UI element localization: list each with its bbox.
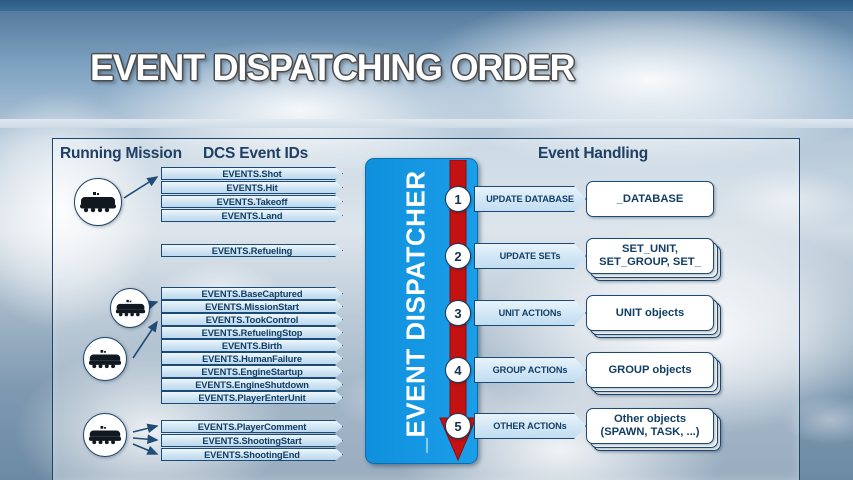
event-id-row[interactable]: EVENTS.ShootingEnd [161, 448, 343, 461]
event-id-row[interactable]: EVENTS.Hit [161, 181, 343, 194]
step-number-5: 5 [445, 413, 471, 439]
event-id-row[interactable]: EVENTS.PlayerComment [161, 420, 343, 433]
event-id-row[interactable]: EVENTS.EngineShutdown [161, 378, 343, 391]
event-id-row[interactable]: EVENTS.TookControl [161, 313, 343, 326]
column-header-event-handling: Event Handling [538, 145, 648, 163]
vehicle-icon-3 [83, 337, 127, 381]
event-id-row[interactable]: EVENTS.Land [161, 209, 343, 222]
result-card-label: Other objects (SPAWN, TASK, ...) [600, 413, 699, 439]
title-divider-band [0, 119, 853, 128]
event-id-row[interactable]: EVENTS.Refueling [161, 244, 343, 257]
action-chevron-update-database[interactable]: UPDATE DATABASE [474, 186, 586, 212]
result-card-sets[interactable]: SET_UNIT, SET_GROUP, SET_ [586, 238, 714, 274]
event-id-row[interactable]: EVENTS.RefuelingStop [161, 326, 343, 339]
event-id-row[interactable]: EVENTS.EngineStartup [161, 365, 343, 378]
result-card-group-objects[interactable]: GROUP objects [586, 352, 714, 388]
vehicle-icon-1 [74, 178, 122, 226]
result-card-line2: (SPAWN, TASK, ...) [600, 426, 699, 438]
step-number-2: 2 [445, 243, 471, 269]
step-number-3: 3 [445, 300, 471, 326]
step-number-4: 4 [445, 357, 471, 383]
event-id-row[interactable]: EVENTS.Birth [161, 339, 343, 352]
column-header-dcs-event-ids: DCS Event IDs [203, 145, 308, 163]
event-id-row[interactable]: EVENTS.ShootingStart [161, 434, 343, 447]
armored-vehicle-glyph [88, 349, 122, 369]
result-card-label: UNIT objects [616, 307, 684, 320]
step-number-1: 1 [445, 186, 471, 212]
result-card-database[interactable]: _DATABASE [586, 181, 714, 217]
armored-vehicle-glyph [88, 425, 122, 445]
action-chevron-group-actions[interactable]: GROUP ACTIONs [474, 357, 586, 383]
top-accent-band [0, 0, 853, 11]
page-title: EVENT DISPATCHING ORDER [90, 47, 574, 89]
action-chevron-unit-actions[interactable]: UNIT ACTIONs [474, 300, 586, 326]
armored-vehicle-glyph [115, 299, 146, 317]
event-id-row[interactable]: EVENTS.BaseCaptured [161, 287, 343, 300]
slide-canvas: EVENT DISPATCHING ORDER Running Mission … [0, 0, 853, 480]
vehicle-icon-4 [83, 413, 127, 457]
event-id-row[interactable]: EVENTS.Takeoff [161, 195, 343, 208]
result-card-unit-objects[interactable]: UNIT objects [586, 295, 714, 331]
event-id-row[interactable]: EVENTS.Shot [161, 167, 343, 180]
result-card-label: _DATABASE [617, 193, 684, 206]
result-card-line2: SET_GROUP, SET_ [599, 256, 701, 268]
event-id-row[interactable]: EVENTS.PlayerEnterUnit [161, 391, 343, 404]
result-card-other-objects[interactable]: Other objects (SPAWN, TASK, ...) [586, 408, 714, 444]
result-card-line1: Other objects [614, 413, 686, 425]
event-id-row[interactable]: EVENTS.MissionStart [161, 300, 343, 313]
column-header-running-mission: Running Mission [60, 145, 182, 163]
result-card-label: GROUP objects [608, 364, 691, 377]
action-chevron-update-sets[interactable]: UPDATE SETs [474, 243, 586, 269]
result-card-line1: SET_UNIT, [622, 243, 678, 255]
result-card-label: SET_UNIT, SET_GROUP, SET_ [599, 243, 701, 269]
action-chevron-other-actions[interactable]: OTHER ACTIONs [474, 413, 586, 439]
vehicle-icon-2 [110, 288, 150, 328]
armored-vehicle-glyph [79, 191, 117, 213]
event-id-row[interactable]: EVENTS.HumanFailure [161, 352, 343, 365]
